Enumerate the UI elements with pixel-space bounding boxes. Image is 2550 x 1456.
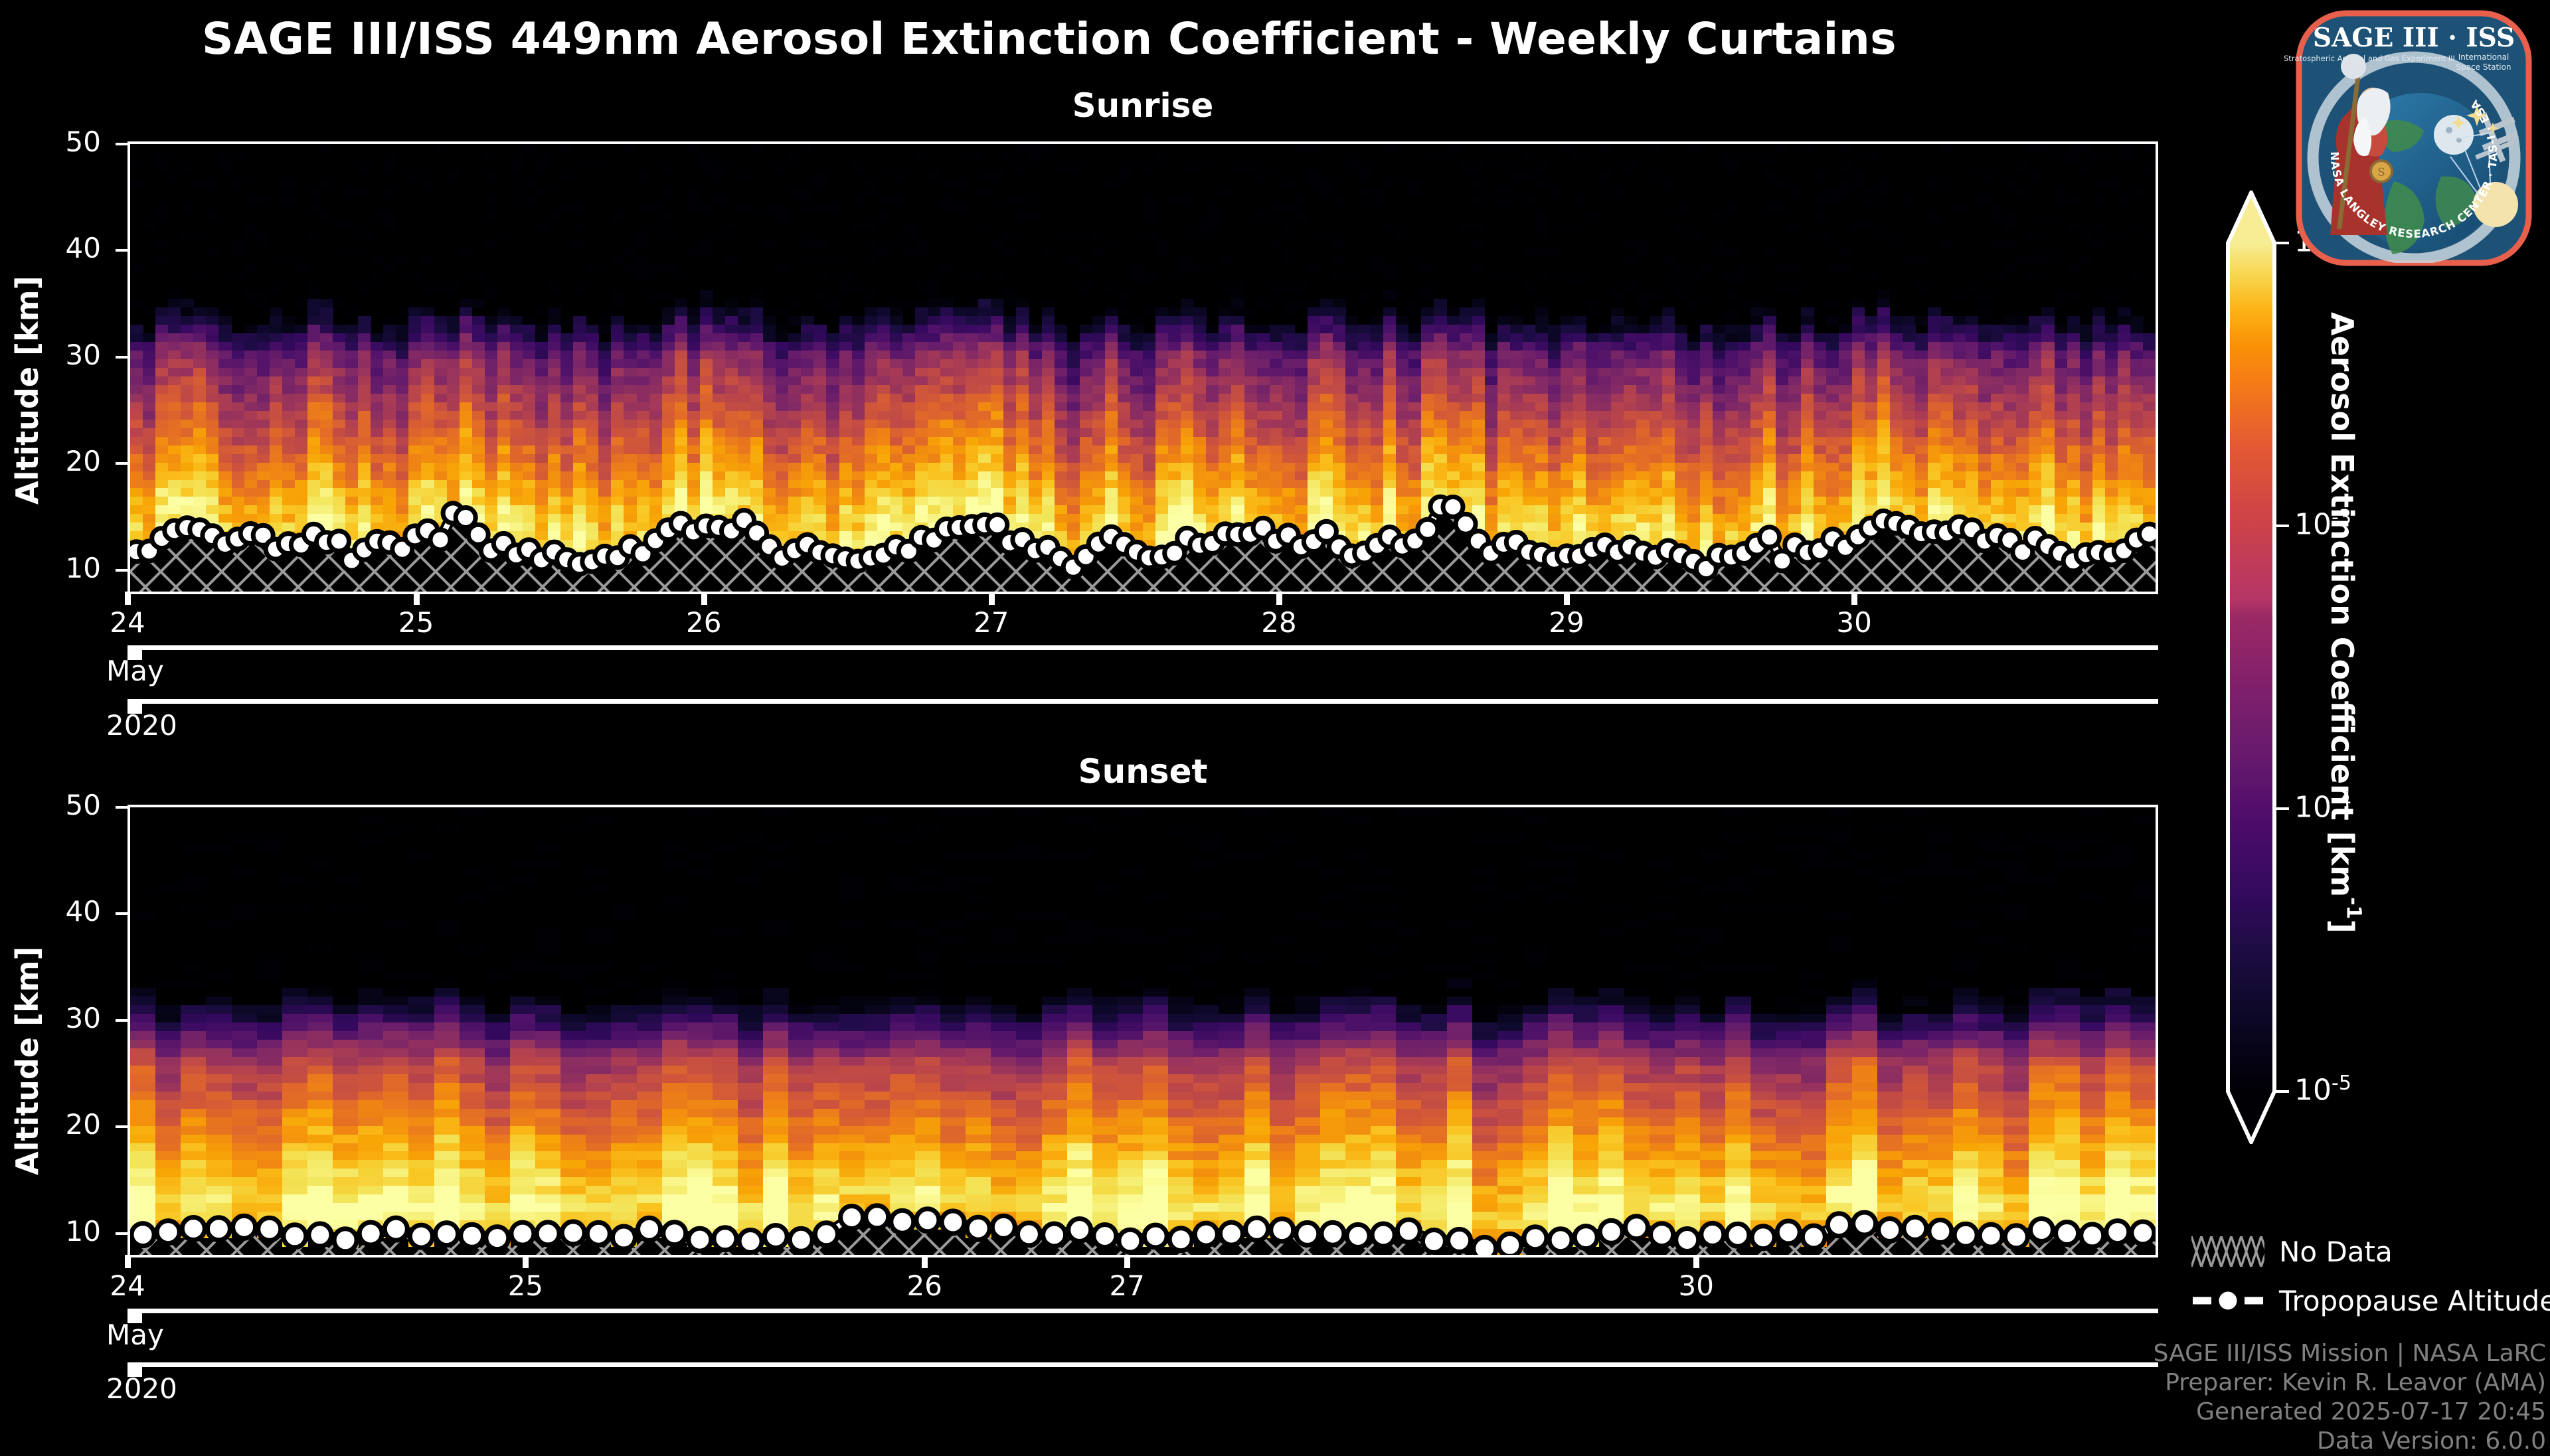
heatmap-cell	[1231, 282, 1244, 291]
heatmap-cell	[371, 411, 384, 420]
heatmap-cell	[206, 428, 219, 438]
heatmap-cell	[320, 213, 333, 222]
heatmap-cell	[1042, 411, 1055, 420]
heatmap-cell	[928, 445, 941, 455]
heatmap-cell	[1839, 463, 1852, 472]
heatmap-cell	[1231, 488, 1244, 497]
heatmap-cell	[2055, 445, 2068, 455]
heatmap-cell	[1383, 368, 1397, 377]
heatmap-cell	[1168, 385, 1181, 394]
heatmap-cell	[1548, 523, 1561, 532]
heatmap-cell	[1421, 368, 1434, 377]
heatmap-cell	[2118, 153, 2131, 162]
heatmap-cell	[915, 376, 928, 386]
heatmap-cell	[1257, 394, 1270, 403]
heatmap-cell	[637, 488, 650, 497]
heatmap-cell	[548, 505, 561, 515]
heatmap-cell	[839, 411, 853, 420]
heatmap-cell	[1270, 497, 1283, 506]
heatmap-cell	[1055, 376, 1068, 386]
heatmap-cell	[1535, 454, 1549, 463]
heatmap-cell	[1750, 437, 1764, 446]
heatmap-cell	[915, 471, 928, 481]
heatmap-cell	[1092, 402, 1106, 412]
heatmap-cell	[1877, 480, 1891, 489]
heatmap-cell	[193, 505, 207, 515]
heatmap-cell	[2016, 161, 2029, 171]
heatmap-cell	[662, 307, 675, 317]
heatmap-cell	[1029, 402, 1042, 412]
heatmap-cell	[928, 488, 941, 497]
heatmap-cell	[1738, 385, 1751, 394]
heatmap-cell	[1826, 316, 1839, 325]
heatmap-cell	[1523, 368, 1536, 377]
heatmap-cell	[396, 333, 409, 343]
heatmap-cell	[763, 368, 776, 377]
heatmap-cell	[1421, 264, 1434, 274]
heatmap-cell	[662, 264, 675, 274]
heatmap-cell	[1966, 411, 1979, 420]
heatmap-cell	[750, 523, 764, 532]
heatmap-cell	[902, 402, 916, 412]
heatmap-cell	[598, 342, 612, 351]
heatmap-cell	[460, 385, 473, 394]
heatmap-cell	[1447, 445, 1460, 455]
heatmap-cell	[1421, 488, 1434, 497]
heatmap-cell	[624, 402, 637, 412]
heatmap-cell	[966, 428, 979, 438]
heatmap-cell	[573, 531, 586, 540]
heatmap-cell	[1333, 523, 1346, 532]
heatmap-cell	[839, 420, 853, 429]
heatmap-cell	[1270, 480, 1283, 489]
heatmap-cell	[1650, 376, 1663, 386]
heatmap-cell	[1055, 514, 1068, 523]
heatmap-cell	[1675, 497, 1688, 506]
heatmap-cell	[1636, 376, 1650, 386]
heatmap-cell	[257, 230, 270, 240]
heatmap-cell	[383, 187, 396, 197]
heatmap-cell	[2003, 239, 2017, 248]
heatmap-cell	[750, 480, 764, 489]
heatmap-cell	[662, 394, 675, 403]
heatmap-cell	[725, 299, 738, 308]
heatmap-cell	[155, 307, 169, 317]
heatmap-cell	[408, 420, 422, 429]
heatmap-cell	[1383, 523, 1397, 532]
heatmap-cell	[1915, 480, 1928, 489]
heatmap-cell	[1624, 497, 1637, 506]
heatmap-cell	[168, 420, 181, 429]
heatmap-cell	[662, 463, 675, 472]
heatmap-cell	[535, 428, 549, 438]
heatmap-cell	[1345, 342, 1359, 351]
heatmap-cell	[1586, 307, 1599, 317]
heatmap-cell	[2067, 264, 2081, 274]
heatmap-cell	[675, 368, 688, 377]
heatmap-cell	[1548, 454, 1561, 463]
heatmap-cell	[1750, 445, 1764, 455]
heatmap-cell	[573, 445, 586, 455]
heatmap-cell	[1725, 471, 1739, 481]
heatmap-cell	[1295, 385, 1308, 394]
heatmap-cell	[928, 420, 941, 429]
heatmap-cell	[1839, 428, 1852, 438]
heatmap-cell	[1308, 385, 1321, 394]
heatmap-cell	[1700, 523, 1713, 532]
heatmap-cell	[1320, 333, 1333, 343]
heatmap-cell	[826, 531, 839, 540]
heatmap-cell	[270, 376, 283, 386]
heatmap-cell	[1231, 290, 1244, 299]
heatmap-cell	[1611, 548, 1624, 558]
heatmap-cell	[1523, 523, 1536, 532]
heatmap-cell	[1776, 531, 1789, 540]
heatmap-cell	[1839, 248, 1852, 257]
heatmap-cell	[1282, 333, 1296, 343]
heatmap-cell	[1928, 454, 1941, 463]
heatmap-cell	[358, 471, 371, 481]
heatmap-cell	[257, 437, 270, 446]
heatmap-cell	[1788, 463, 1802, 472]
heatmap-cell	[700, 290, 713, 299]
heatmap-cell	[1801, 359, 1814, 368]
heatmap-cell	[1636, 359, 1650, 368]
heatmap-cell	[865, 239, 878, 248]
heatmap-cell	[1042, 531, 1055, 540]
heatmap-cell	[953, 325, 966, 334]
heatmap-cell	[320, 514, 333, 523]
heatmap-cell	[902, 368, 916, 377]
heatmap-cell	[421, 505, 434, 515]
heatmap-cell	[497, 454, 511, 463]
heatmap-cell	[1485, 454, 1498, 463]
heatmap-cell	[2016, 359, 2029, 368]
heatmap-cell	[1598, 471, 1612, 481]
heatmap-cell	[2118, 376, 2131, 386]
heatmap-cell	[1801, 437, 1814, 446]
heatmap-cell	[408, 497, 422, 506]
heatmap-cell	[1193, 454, 1207, 463]
heatmap-cell	[1497, 273, 1511, 282]
heatmap-cell	[813, 402, 827, 412]
heatmap-cell	[2003, 445, 2017, 455]
heatmap-cell	[1105, 359, 1118, 368]
heatmap-cell	[1852, 307, 1865, 317]
heatmap-cell	[750, 428, 764, 438]
heatmap-cell	[687, 480, 701, 489]
sunrise-panel-title: Sunrise	[127, 86, 2158, 125]
heatmap-cell	[1573, 196, 1586, 205]
heatmap-cell	[2055, 342, 2068, 351]
heatmap-cell	[257, 239, 270, 248]
heatmap-cell	[1016, 428, 1029, 438]
heatmap-cell	[270, 282, 283, 291]
heatmap-cell	[1055, 359, 1068, 368]
heatmap-cell	[713, 402, 726, 412]
heatmap-cell	[611, 488, 624, 497]
heatmap-cell	[1434, 333, 1447, 343]
heatmap-cell	[1852, 480, 1865, 489]
heatmap-cell	[2041, 325, 2055, 334]
heatmap-cell	[788, 514, 802, 523]
heatmap-cell	[2080, 514, 2093, 523]
heatmap-cell	[1776, 333, 1789, 343]
heatmap-cell	[788, 385, 802, 394]
heatmap-cell	[497, 471, 511, 481]
heatmap-cell	[1598, 342, 1612, 351]
heatmap-cell	[649, 454, 663, 463]
heatmap-cell	[713, 523, 726, 532]
heatmap-cell	[991, 359, 1004, 368]
heatmap-cell	[1042, 540, 1055, 549]
heatmap-cell	[738, 454, 751, 463]
heatmap-cell	[1725, 514, 1739, 523]
heatmap-cell	[1497, 531, 1511, 540]
heatmap-cell	[358, 394, 371, 403]
heatmap-cell	[1472, 299, 1486, 308]
sunrise-plot-area[interactable]	[127, 141, 2158, 594]
heatmap-cell	[1358, 411, 1371, 420]
heatmap-cell	[535, 153, 549, 162]
heatmap-cell	[1472, 420, 1486, 429]
heatmap-cell	[700, 342, 713, 351]
heatmap-cell	[1826, 480, 1839, 489]
heatmap-cell	[1067, 454, 1080, 463]
heatmap-cell	[1029, 454, 1042, 463]
heatmap-cell	[181, 514, 194, 523]
heatmap-cell	[1003, 394, 1017, 403]
heatmap-cell	[295, 316, 308, 325]
heatmap-cell	[1333, 307, 1346, 317]
heatmap-cell	[523, 368, 536, 377]
heatmap-cell	[1915, 531, 1928, 540]
heatmap-cell	[1295, 437, 1308, 446]
heatmap-cell	[485, 531, 498, 540]
heatmap-cell	[535, 376, 549, 386]
heatmap-cell	[396, 454, 409, 463]
heatmap-cell	[2118, 480, 2131, 489]
heatmap-cell	[915, 394, 928, 403]
heatmap-cell	[1636, 368, 1650, 377]
heatmap-cell	[472, 359, 485, 368]
heatmap-cell	[1270, 239, 1283, 248]
heatmap-cell	[826, 540, 839, 549]
heatmap-cell	[1447, 428, 1460, 438]
heatmap-cell	[257, 376, 270, 386]
heatmap-cell	[637, 239, 650, 248]
heatmap-cell	[1877, 376, 1891, 386]
heatmap-cell	[1966, 359, 1979, 368]
heatmap-cell	[637, 445, 650, 455]
heatmap-cell	[1447, 505, 1460, 515]
heatmap-cell	[1650, 540, 1663, 549]
heatmap-cell	[865, 420, 878, 429]
heatmap-cell	[206, 505, 219, 515]
heatmap-cell	[2003, 179, 2017, 188]
heatmap-cell	[1408, 256, 1422, 266]
heatmap-cell	[1168, 342, 1181, 351]
heatmap-cell	[1903, 325, 1916, 334]
heatmap-cell	[573, 394, 586, 403]
heatmap-cell	[915, 454, 928, 463]
heatmap-cell	[1155, 531, 1169, 540]
heatmap-cell	[1865, 385, 1878, 394]
heatmap-cell	[776, 325, 789, 334]
heatmap-cell	[2003, 402, 2017, 412]
heatmap-cell	[130, 420, 143, 429]
heatmap-cell	[1080, 368, 1093, 377]
heatmap-cell	[1865, 273, 1878, 282]
heatmap-cell	[2118, 488, 2131, 497]
heatmap-cell	[776, 204, 789, 214]
heatmap-cell	[2092, 454, 2106, 463]
heatmap-cell	[1155, 445, 1169, 455]
heatmap-cell	[1890, 437, 1903, 446]
heatmap-cell	[1750, 351, 1764, 360]
heatmap-cell	[788, 376, 802, 386]
heatmap-cell	[1750, 480, 1764, 489]
heatmap-cell	[560, 385, 574, 394]
heatmap-cell	[1548, 480, 1561, 489]
heatmap-cell	[130, 385, 143, 394]
heatmap-cell	[1155, 540, 1169, 549]
heatmap-cell	[307, 187, 321, 197]
heatmap-cell	[1814, 463, 1827, 472]
heatmap-cell	[447, 471, 460, 481]
heatmap-cell	[1105, 480, 1118, 489]
heatmap-cell	[852, 368, 865, 377]
heatmap-cell	[1573, 463, 1586, 472]
heatmap-cell	[1839, 144, 1852, 153]
heatmap-cell	[1206, 342, 1219, 351]
heatmap-cell	[2143, 463, 2156, 472]
heatmap-cell	[1244, 488, 1258, 497]
heatmap-cell	[1383, 333, 1397, 343]
heatmap-cell	[1991, 531, 2004, 540]
heatmap-cell	[1295, 359, 1308, 368]
heatmap-cell	[548, 445, 561, 455]
heatmap-cell	[1713, 540, 1726, 549]
heatmap-cell	[333, 342, 346, 351]
heatmap-cell	[1738, 523, 1751, 532]
heatmap-cell	[1573, 437, 1586, 446]
heatmap-cell	[1662, 480, 1675, 489]
heatmap-cell	[928, 273, 941, 282]
heatmap-cell	[2041, 351, 2055, 360]
heatmap-cell	[750, 454, 764, 463]
heatmap-cell	[649, 497, 663, 506]
heatmap-cell	[371, 273, 384, 282]
heatmap-cell	[611, 290, 624, 299]
heatmap-cell	[1408, 497, 1422, 506]
heatmap-cell	[1738, 420, 1751, 429]
heatmap-cell	[193, 385, 207, 394]
heatmap-cell	[1485, 316, 1498, 325]
heatmap-cell	[877, 359, 891, 368]
heatmap-cell	[586, 548, 599, 558]
heatmap-cell	[1460, 385, 1473, 394]
heatmap-cell	[1573, 514, 1586, 523]
heatmap-cell	[1447, 333, 1460, 343]
heatmap-cell	[725, 505, 738, 515]
heatmap-cell	[1713, 248, 1726, 257]
heatmap-cell	[1383, 454, 1397, 463]
heatmap-cell	[1270, 333, 1283, 343]
heatmap-cell	[2067, 153, 2081, 162]
heatmap-cell	[282, 523, 296, 532]
heatmap-cell	[2118, 505, 2131, 515]
heatmap-cell	[1029, 497, 1042, 506]
heatmap-cell	[1181, 368, 1194, 377]
heatmap-cell	[244, 454, 258, 463]
heatmap-cell	[801, 531, 814, 540]
heatmap-cell	[1371, 463, 1384, 472]
heatmap-cell	[2016, 411, 2029, 420]
heatmap-cell	[1750, 376, 1764, 386]
heatmap-cell	[1991, 213, 2004, 222]
heatmap-cell	[1535, 471, 1549, 481]
heatmap-cell	[763, 420, 776, 429]
heatmap-cell	[611, 325, 624, 334]
heatmap-cell	[2055, 488, 2068, 497]
heatmap-cell	[966, 505, 979, 515]
heatmap-cell	[725, 411, 738, 420]
heatmap-cell	[1055, 540, 1068, 549]
heatmap-cell	[320, 351, 333, 360]
heatmap-cell	[295, 514, 308, 523]
heatmap-cell	[1257, 428, 1270, 438]
heatmap-cell	[130, 333, 143, 343]
heatmap-cell	[675, 385, 688, 394]
heatmap-cell	[2105, 351, 2118, 360]
heatmap-cell	[1523, 351, 1536, 360]
heatmap-cell	[2055, 325, 2068, 334]
heatmap-cell	[1865, 445, 1878, 455]
heatmap-cell	[662, 505, 675, 515]
heatmap-cell	[940, 325, 954, 334]
heatmap-cell	[902, 523, 916, 532]
heatmap-cell	[1535, 505, 1549, 515]
heatmap-cell	[1839, 368, 1852, 377]
heatmap-cell	[320, 368, 333, 377]
heatmap-cell	[1105, 316, 1118, 325]
heatmap-cell	[890, 454, 903, 463]
heatmap-cell	[2092, 531, 2106, 540]
heatmap-cell	[510, 497, 523, 506]
heatmap-cell	[1358, 402, 1371, 412]
heatmap-cell	[295, 488, 308, 497]
heatmap-cell	[1003, 342, 1017, 351]
heatmap-cell	[1763, 248, 1776, 257]
heatmap-cell	[2067, 445, 2081, 455]
heatmap-cell	[1725, 368, 1739, 377]
heatmap-cell	[1966, 428, 1979, 438]
heatmap-cell	[573, 540, 586, 549]
heatmap-cell	[1877, 299, 1891, 308]
heatmap-cell	[1219, 437, 1232, 446]
heatmap-cell	[535, 463, 549, 472]
heatmap-cell	[371, 454, 384, 463]
heatmap-cell	[1434, 437, 1447, 446]
heatmap-cell	[1333, 480, 1346, 489]
heatmap-cell	[1700, 368, 1713, 377]
heatmap-cell	[1421, 359, 1434, 368]
heatmap-cell	[2105, 531, 2118, 540]
heatmap-cell	[1535, 273, 1549, 282]
heatmap-cell	[1244, 505, 1258, 515]
heatmap-cell	[1750, 385, 1764, 394]
